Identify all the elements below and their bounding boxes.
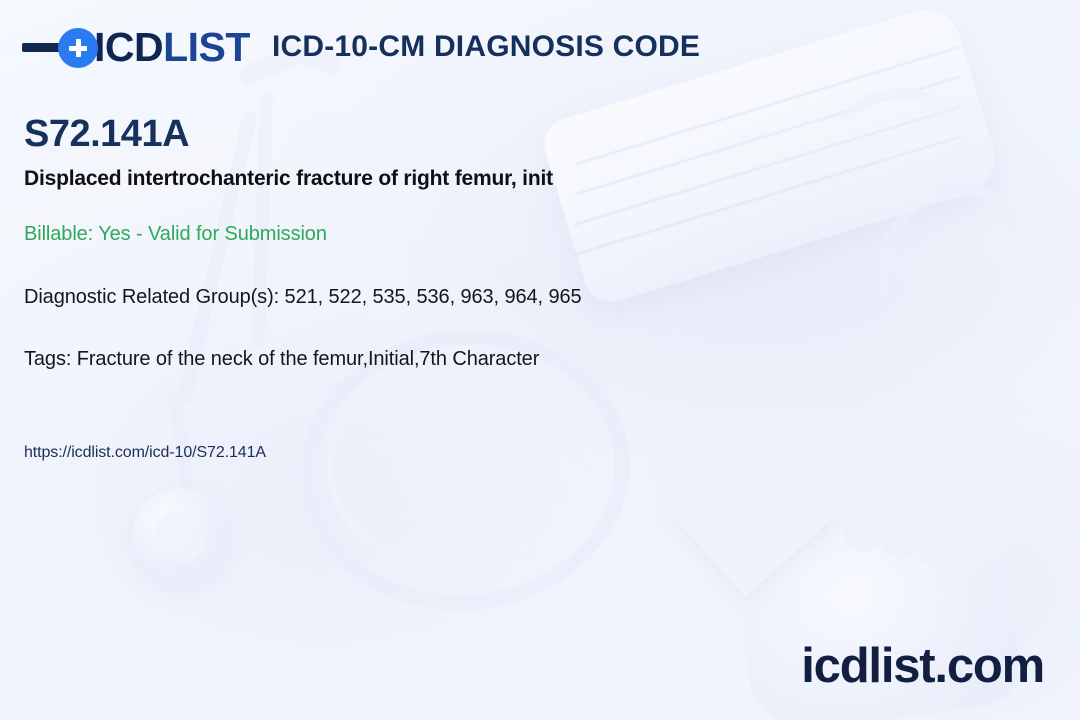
brand-wordmark: icdlist.com bbox=[801, 638, 1044, 694]
diagnostic-related-groups: Diagnostic Related Group(s): 521, 522, 5… bbox=[24, 286, 582, 309]
tags-list: Tags: Fracture of the neck of the femur,… bbox=[24, 348, 539, 371]
header: ICD LIST ICD-10-CM DIAGNOSIS CODE bbox=[22, 24, 700, 71]
card-content: ICD LIST ICD-10-CM DIAGNOSIS CODE S72.14… bbox=[0, 0, 1080, 720]
billable-status: Billable: Yes - Valid for Submission bbox=[24, 223, 327, 246]
diagnosis-description: Displaced intertrochanteric fracture of … bbox=[24, 167, 553, 191]
diagnosis-code: S72.141A bbox=[24, 113, 189, 156]
plus-icon bbox=[58, 28, 98, 68]
source-url[interactable]: https://icdlist.com/icd-10/S72.141A bbox=[24, 444, 266, 462]
icd-code-card: ICD LIST ICD-10-CM DIAGNOSIS CODE S72.14… bbox=[0, 0, 1080, 720]
icdlist-logo[interactable]: ICD LIST bbox=[22, 24, 250, 71]
logo-text-icd: ICD bbox=[94, 24, 163, 71]
logo-text-list: LIST bbox=[163, 24, 250, 71]
page-title: ICD-10-CM DIAGNOSIS CODE bbox=[272, 30, 700, 66]
